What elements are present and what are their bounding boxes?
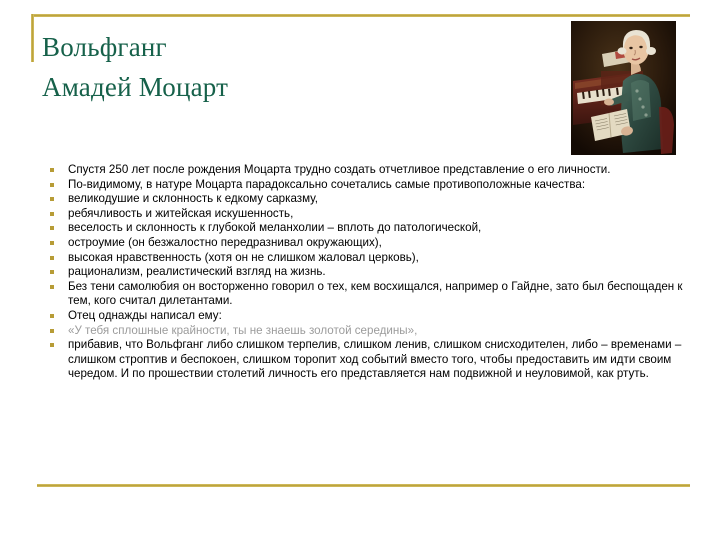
body-bullet-item: ребячливость и житейская искушенность, bbox=[44, 207, 692, 222]
presentation-slide: Вольфганг Амадей Моцарт bbox=[0, 0, 720, 540]
body-bullet-item: Без тени самолюбия он восторженно говори… bbox=[44, 280, 692, 309]
body-bullet-item: великодушие и склонность к едкому сарказ… bbox=[44, 192, 692, 207]
body-bullet-item: «У тебя сплошные крайности, ты не знаешь… bbox=[44, 324, 692, 339]
slide-title: Вольфганг Амадей Моцарт bbox=[42, 27, 512, 107]
body-bullet-list: Спустя 250 лет после рождения Моцарта тр… bbox=[44, 163, 692, 382]
mozart-portrait-image bbox=[571, 21, 676, 155]
top-gold-rule bbox=[31, 14, 690, 17]
body-bullet-item: прибавив, что Вольфганг либо слишком тер… bbox=[44, 338, 692, 382]
portrait-artwork bbox=[571, 21, 676, 155]
body-bullet-item: веселость и склонность к глубокой меланх… bbox=[44, 221, 692, 236]
body-bullet-item: высокая нравственность (хотя он не слишк… bbox=[44, 251, 692, 266]
bottom-gold-rule bbox=[37, 484, 690, 487]
body-bullet-item: Отец однажды написал ему: bbox=[44, 309, 692, 324]
body-bullet-item: Спустя 250 лет после рождения Моцарта тр… bbox=[44, 163, 692, 178]
body-bullet-item: остроумие (он безжалостно передразнивал … bbox=[44, 236, 692, 251]
body-bullet-item: рационализм, реалистический взгляд на жи… bbox=[44, 265, 692, 280]
body-bullet-item: По-видимому, в натуре Моцарта парадоксал… bbox=[44, 178, 692, 193]
left-gold-rule bbox=[31, 14, 34, 62]
